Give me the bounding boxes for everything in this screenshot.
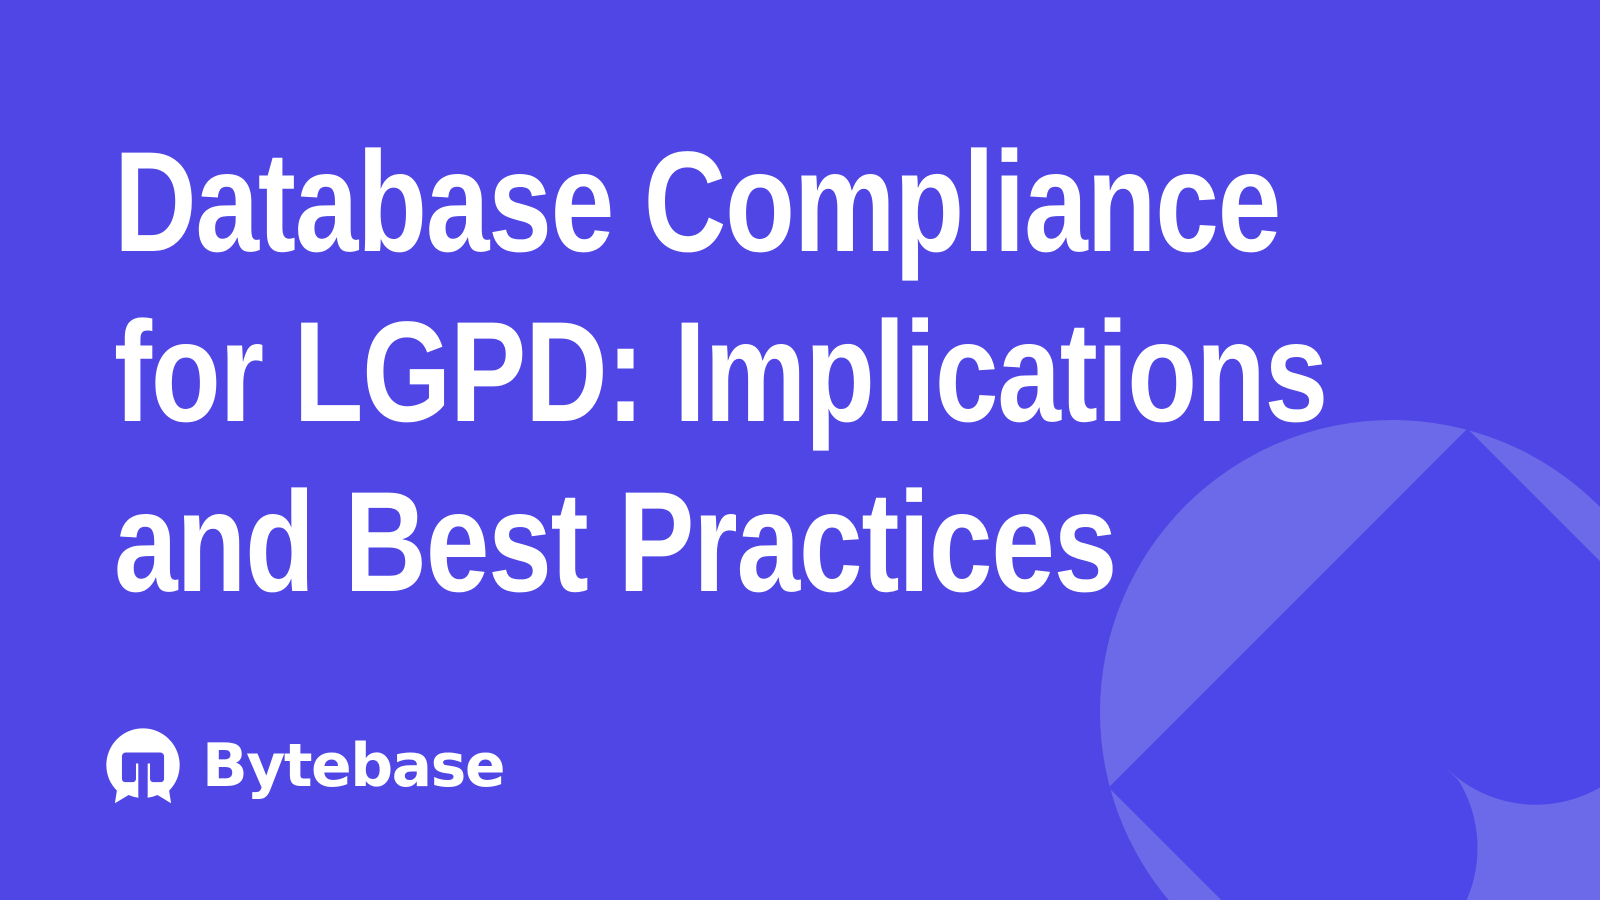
bytebase-logo-mark: [104, 726, 182, 804]
title-line-1: Database Compliance: [114, 118, 1154, 288]
page-title: Database Compliance for LGPD: Implicatio…: [114, 118, 1414, 628]
title-line-2: for LGPD: Implications: [114, 288, 1154, 458]
bytebase-wordmark: Bytebase: [202, 736, 504, 796]
title-line-3: and Best Practices: [114, 458, 1154, 628]
bytebase-logo-lockup[interactable]: Bytebase: [104, 724, 504, 806]
og-card: Database Compliance for LGPD: Implicatio…: [0, 0, 1600, 900]
